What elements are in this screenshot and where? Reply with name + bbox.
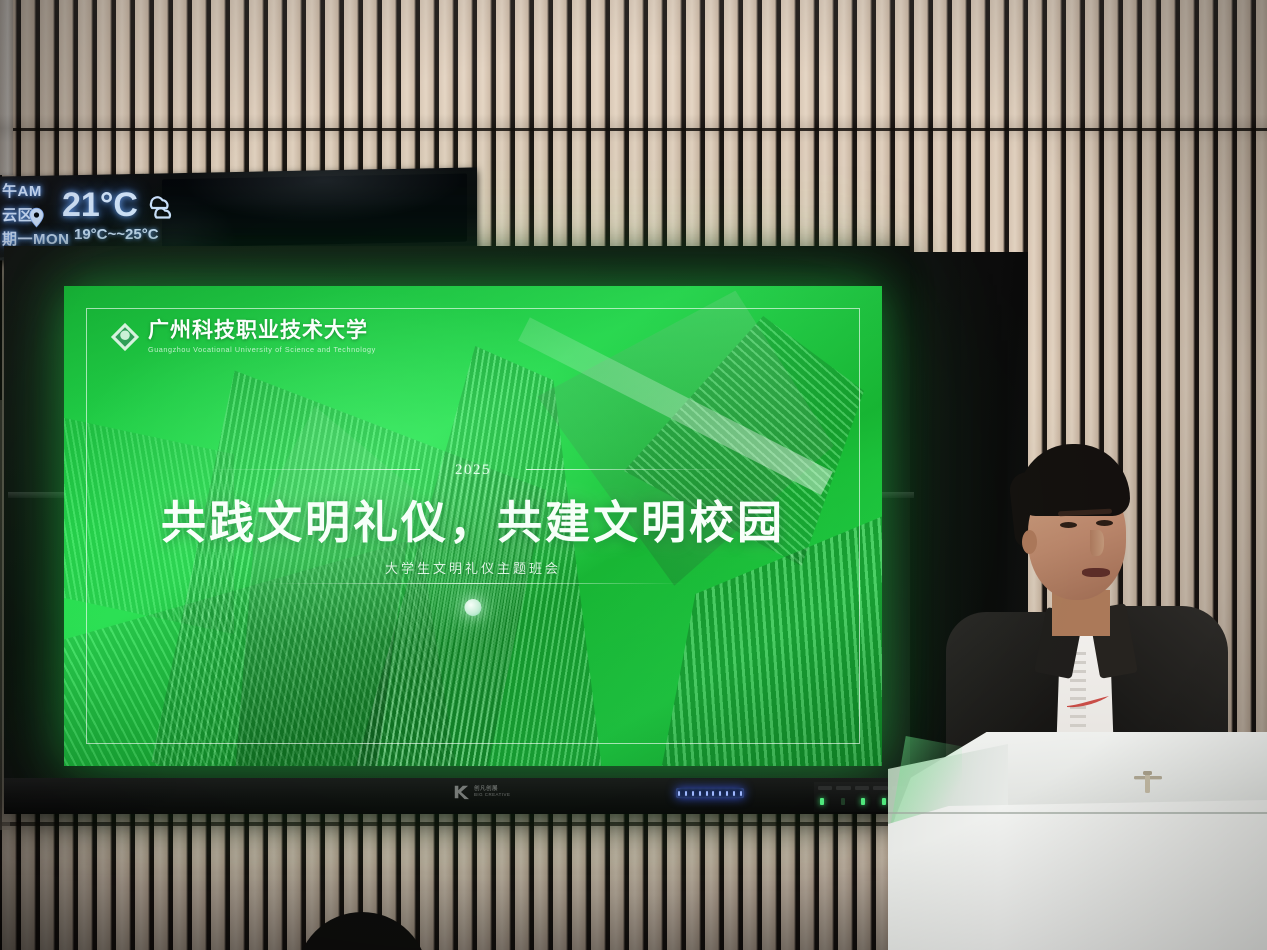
blue-led-strip (676, 788, 744, 798)
slide-university-logo: 广州科技职业技术大学 Guangzhou Vocational Universi… (110, 320, 376, 354)
podium-edge-line (888, 812, 1267, 814)
presenter-nose (1090, 530, 1104, 556)
scene-photo: 午AM 云区 期一MON 21°C 19°C~~25°C (0, 0, 1267, 950)
presenter-mouth (1082, 568, 1110, 577)
presentation-screen[interactable]: 广州科技职业技术大学 Guangzhou Vocational Universi… (64, 286, 882, 766)
slide-rule-bottom (263, 583, 683, 584)
podium-body (888, 800, 1267, 950)
presenter-eye-left (1060, 522, 1077, 528)
microphone-mount-icon (1131, 768, 1165, 794)
slide-year: 2025 (64, 462, 882, 479)
k-logo-icon (452, 784, 470, 800)
diamond-logo-icon (110, 322, 140, 352)
led-temperature: 21°C (62, 186, 138, 225)
display-brand-en: BIG CREATIVE (474, 793, 510, 798)
slide-glowing-dot (465, 599, 482, 616)
led-sign-line1: 午AM (2, 180, 42, 201)
presenter-hair (1018, 444, 1130, 516)
slide-subtitle: 大学生文明礼仪主题班会 (64, 558, 882, 577)
shirt-swoosh-icon (1066, 696, 1110, 708)
slide-university-name-en: Guangzhou Vocational University of Scien… (148, 345, 376, 354)
cloud-icon (140, 192, 178, 224)
display-brand-mark: 创凡创展 BIG CREATIVE (452, 784, 510, 800)
led-temperature-range: 19°C~~25°C (74, 226, 159, 243)
presenter-ear (1022, 530, 1037, 554)
slide-university-name-cn: 广州科技职业技术大学 (148, 320, 376, 341)
slide-title: 共践文明礼仪，共建文明校园 (64, 486, 882, 551)
location-pin-icon (28, 207, 45, 228)
presenter-eye-right (1096, 520, 1113, 526)
